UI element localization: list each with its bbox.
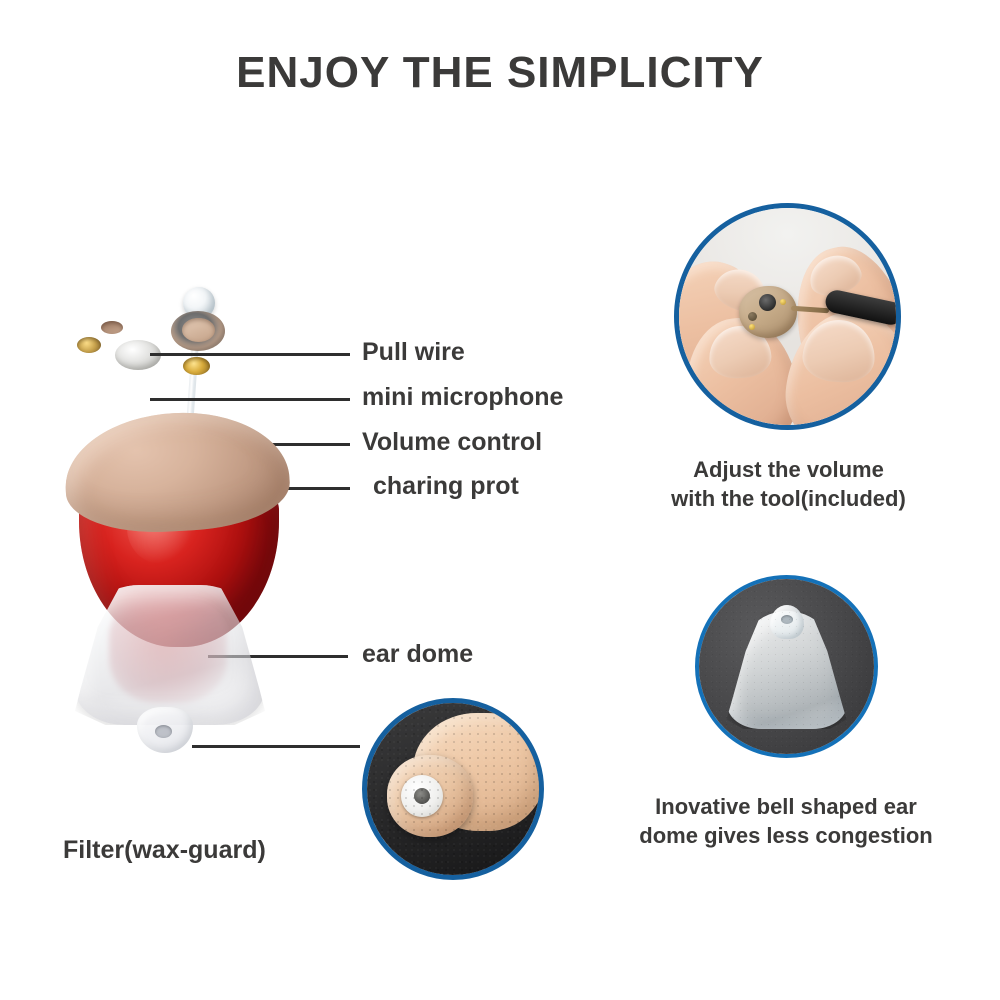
charging-dot-icon xyxy=(780,299,786,305)
charging-port-icon xyxy=(183,357,210,375)
hearing-aid-in-hand xyxy=(739,286,797,338)
ear-dome-part xyxy=(75,585,265,745)
microphone-port-icon xyxy=(101,321,123,334)
page-title: ENJOY THE SIMPLICITY xyxy=(0,48,1000,98)
leader-line-filter xyxy=(192,745,360,748)
mic-port-dot-icon xyxy=(748,312,757,321)
inset-photo-wax-filter xyxy=(362,698,544,880)
callout-label-mini-microphone: mini microphone xyxy=(362,383,563,412)
callout-label-charging-port: charing prot xyxy=(373,472,519,501)
photo-dark-background xyxy=(699,579,874,754)
caption-line-2: with the tool(included) xyxy=(636,484,941,513)
volume-control-wheel xyxy=(182,318,215,342)
bell-shaped-ear-dome xyxy=(727,611,847,729)
photo-filter-background xyxy=(367,703,539,875)
inset-photo-bell-dome xyxy=(695,575,878,758)
hearing-aid-nozzle-tip xyxy=(387,755,473,837)
callout-label-pull-wire: Pull wire xyxy=(362,338,465,367)
contact-dot-icon xyxy=(749,324,755,330)
leader-line-pull-wire xyxy=(150,353,350,356)
inset-photo-adjust-volume xyxy=(674,203,901,430)
callout-label-volume-control: Volume control xyxy=(362,428,542,457)
leader-line-mini-microphone xyxy=(150,398,350,401)
caption-line-1: Inovative bell shaped ear xyxy=(600,792,972,821)
caption-bell-dome: Inovative bell shaped ear dome gives les… xyxy=(600,792,972,851)
hearing-aid-product-image xyxy=(55,285,315,785)
callout-label-filter: Filter(wax-guard) xyxy=(63,836,266,865)
caption-line-2: dome gives less congestion xyxy=(600,821,972,850)
caption-line-1: Adjust the volume xyxy=(636,455,941,484)
callout-label-ear-dome: ear dome xyxy=(362,640,473,669)
volume-wheel-icon xyxy=(759,294,776,311)
wax-filter-opening-icon xyxy=(155,725,172,738)
side-contact-icon xyxy=(77,337,101,353)
wax-guard-filter-disc xyxy=(401,775,443,817)
caption-adjust-volume: Adjust the volume with the tool(included… xyxy=(636,455,941,514)
dome-bell-shape xyxy=(75,585,265,725)
bell-dome-hole-icon xyxy=(781,615,793,624)
wax-guard-filter-hole-icon xyxy=(414,788,430,804)
photo-hands-background xyxy=(679,208,896,425)
hearing-aid-nozzle-body xyxy=(413,713,544,831)
bell-dome-stem xyxy=(770,605,804,639)
infographic-canvas: ENJOY THE SIMPLICITY Pull wire mini micr… xyxy=(0,0,1000,1000)
